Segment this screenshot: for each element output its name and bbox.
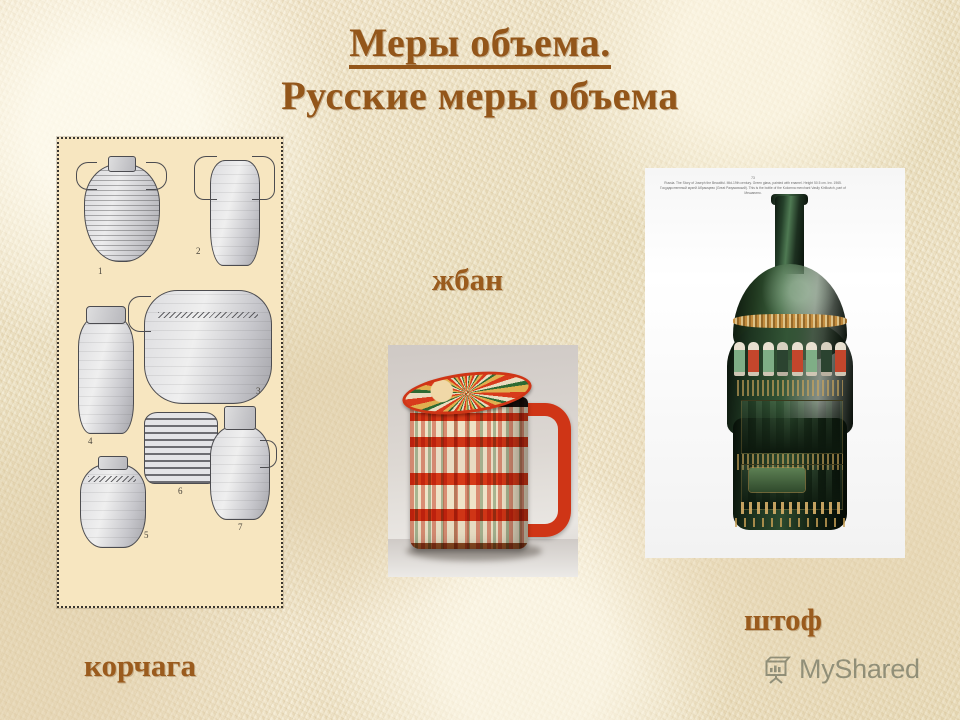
page-title-primary: Меры объема. [349,22,611,69]
bottle-base-scallop [735,518,845,527]
painted-figure [763,342,774,376]
bottle-gold-band [733,314,847,328]
vessel-6 [144,412,216,482]
slide-canvas: Меры объема. Русские меры объема 1 2 [0,0,960,720]
vessel-1-neck [108,156,136,172]
caption-shtof: штоф [744,602,822,638]
title-block: Меры объема. Русские меры объема [0,22,960,117]
vessel-5-neck [98,456,128,470]
painted-figure [734,342,745,376]
vessel-4 [78,316,132,432]
painted-figure [748,342,759,376]
watermark-label: MyShared [799,654,920,685]
bottle-painted-bed [749,468,805,492]
painted-figure [806,342,817,376]
vessel-number-3: 3 [256,386,261,396]
vessel-1-handle-left [76,162,97,190]
myshared-watermark[interactable]: MyShared [762,654,920,685]
vessel-number-6: 6 [178,486,183,496]
vessel-7-neck [224,406,256,430]
presentation-board-icon [762,655,792,685]
vessel-6-body [144,412,218,484]
vessel-2-handle-left [194,156,217,200]
vessel-number-5: 5 [144,530,149,540]
bottle-inscription-band-1 [737,380,843,396]
vessel-1-handle-right [146,162,167,190]
vessel-4-neck [86,306,126,324]
caption-korchaga: корчага [84,648,196,684]
plate-inner: 1 2 3 4 [62,142,278,603]
vessel-number-2: 2 [196,246,201,256]
shtof-caption-text: Russia. The Story of Joseph the Beautifu… [660,181,846,195]
painted-figure [777,342,788,376]
vessel-5-ornament [88,476,136,482]
shtof-photograph: 73 Russia. The Story of Joseph the Beaut… [645,168,905,558]
painted-figure [821,342,832,376]
page-title-secondary: Русские меры объема [0,75,960,117]
korchaga-illustration-plate: 1 2 3 4 [57,137,283,608]
vessel-5 [80,464,144,546]
bottle-large-inscription [741,502,843,514]
vessel-3 [144,290,270,402]
caption-zhban: жбан [432,262,503,298]
vessel-4-body [78,316,134,434]
vessel-7-handle [260,440,277,468]
vessel-3-ornament [158,312,258,318]
bottle-dancing-figures [731,330,849,376]
painted-figure [792,342,803,376]
vessel-number-4: 4 [88,436,93,446]
zhban-photograph [388,345,578,577]
jug-painted-pattern [410,397,528,549]
vessel-number-7: 7 [238,522,243,532]
vessel-3-body [144,290,272,404]
vessel-2 [210,160,258,264]
vessel-7 [210,426,268,518]
vessel-2-handle-right [252,156,275,200]
bottle-neck [775,196,804,274]
vessel-1 [84,164,158,260]
shtof-photo-caption: 73 Russia. The Story of Joseph the Beaut… [653,176,853,196]
bottle-scene-panel-1 [741,400,843,454]
vessel-number-1: 1 [98,266,103,276]
painted-figure [835,342,846,376]
